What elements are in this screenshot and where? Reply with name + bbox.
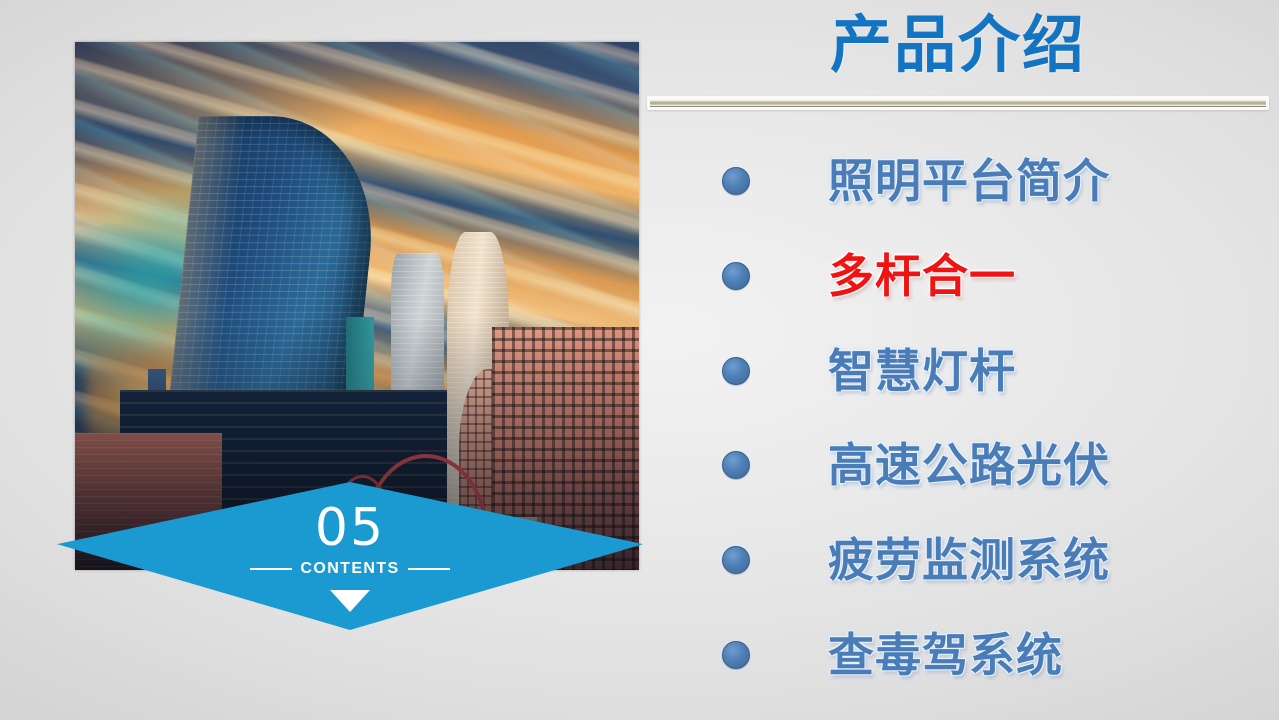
- list-item[interactable]: 智慧灯杆: [648, 340, 1279, 402]
- list-item[interactable]: 查毒驾系统: [648, 624, 1279, 686]
- title-divider: [647, 96, 1269, 110]
- title-divider-bevel: [650, 99, 1266, 107]
- contents-list: 照明平台简介 多杆合一 智慧灯杆 高速公路光伏 疲劳监测系统 查毒驾系统: [648, 132, 1279, 708]
- bullet-icon: [722, 641, 750, 669]
- bullet-icon: [722, 546, 750, 574]
- list-item[interactable]: 照明平台简介: [648, 150, 1279, 212]
- list-item[interactable]: 多杆合一: [648, 245, 1279, 307]
- bullet-icon: [722, 451, 750, 479]
- page-title: 产品介绍: [648, 6, 1268, 84]
- list-item[interactable]: 高速公路光伏: [648, 434, 1279, 496]
- list-item-label: 多杆合一: [828, 253, 1016, 299]
- bullet-icon: [722, 262, 750, 290]
- bullet-icon: [722, 167, 750, 195]
- list-item-label: 智慧灯杆: [828, 348, 1016, 394]
- list-item-label: 查毒驾系统: [828, 632, 1063, 678]
- bullet-icon: [722, 357, 750, 385]
- list-item-label: 疲劳监测系统: [828, 537, 1110, 583]
- list-item-label: 照明平台简介: [828, 158, 1110, 204]
- presentation-slide: 05 CONTENTS 产品介绍 照明平台简介 多杆合一 智慧灯杆 高速公路光伏: [0, 0, 1279, 720]
- list-item[interactable]: 疲劳监测系统: [648, 529, 1279, 591]
- list-item-label: 高速公路光伏: [828, 442, 1110, 488]
